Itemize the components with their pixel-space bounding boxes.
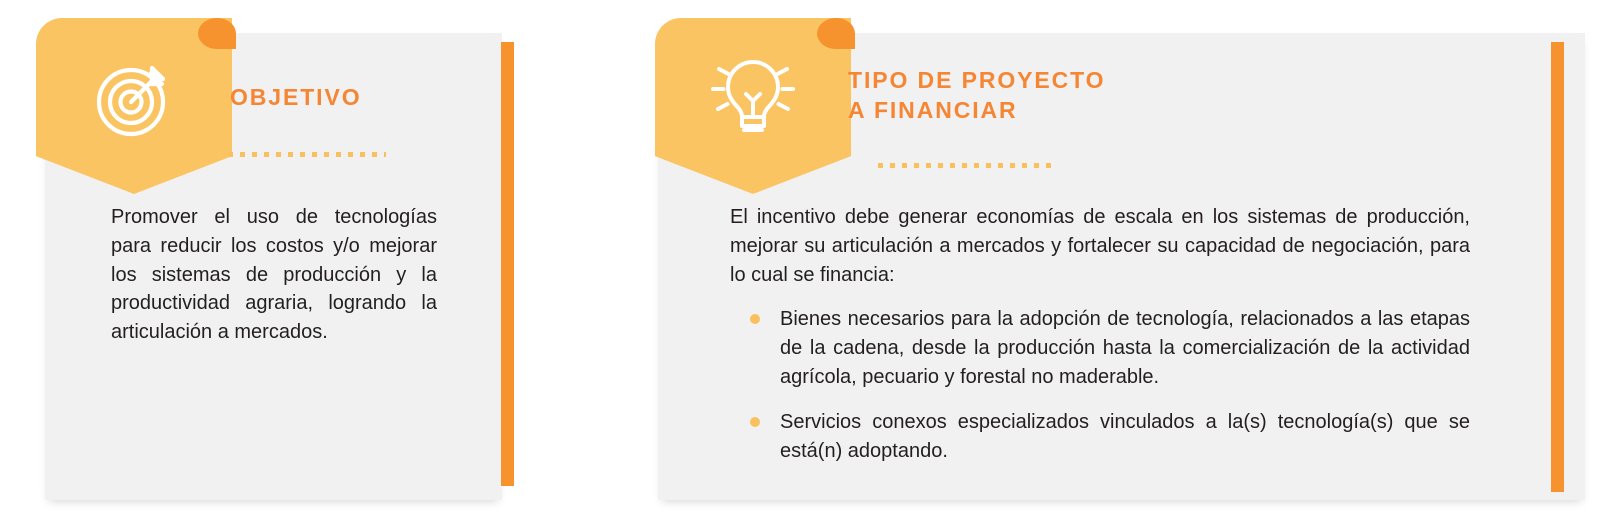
card-body: El incentivo debe generar economías de e… — [730, 203, 1470, 465]
card-accent-bar — [501, 42, 514, 486]
body-paragraph: El incentivo debe generar economías de e… — [730, 203, 1470, 289]
list-item-text: Bienes necesarios para la adopción de te… — [780, 308, 1470, 388]
ribbon-fold-corner — [198, 18, 236, 49]
ribbon-fold-corner — [817, 18, 855, 49]
bullet-list: Bienes necesarios para la adopción de te… — [730, 305, 1470, 465]
target-icon — [36, 56, 232, 142]
dotted-divider — [228, 152, 386, 157]
body-paragraph: Promover el uso de tecnologías para redu… — [111, 203, 437, 347]
card-heading: OBJETIVO — [230, 83, 500, 113]
lightbulb-icon — [655, 52, 851, 144]
bullet-dot-icon — [750, 417, 760, 427]
card-heading: TIPO DE PROYECTO A FINANCIAR — [848, 66, 1278, 126]
dotted-divider — [878, 163, 1053, 168]
card-tipo-de-proyecto-a-financiar: TIPO DE PROYECTO A FINANCIAR El incentiv… — [630, 0, 1618, 518]
card-accent-bar — [1551, 42, 1564, 492]
card-objetivo: OBJETIVO Promover el uso de tecnologías … — [0, 0, 560, 518]
card-body: Promover el uso de tecnologías para redu… — [111, 203, 437, 347]
list-item: Servicios conexos especializados vincula… — [730, 408, 1470, 466]
list-item-text: Servicios conexos especializados vincula… — [780, 411, 1470, 462]
bullet-dot-icon — [750, 314, 760, 324]
list-item: Bienes necesarios para la adopción de te… — [730, 305, 1470, 391]
